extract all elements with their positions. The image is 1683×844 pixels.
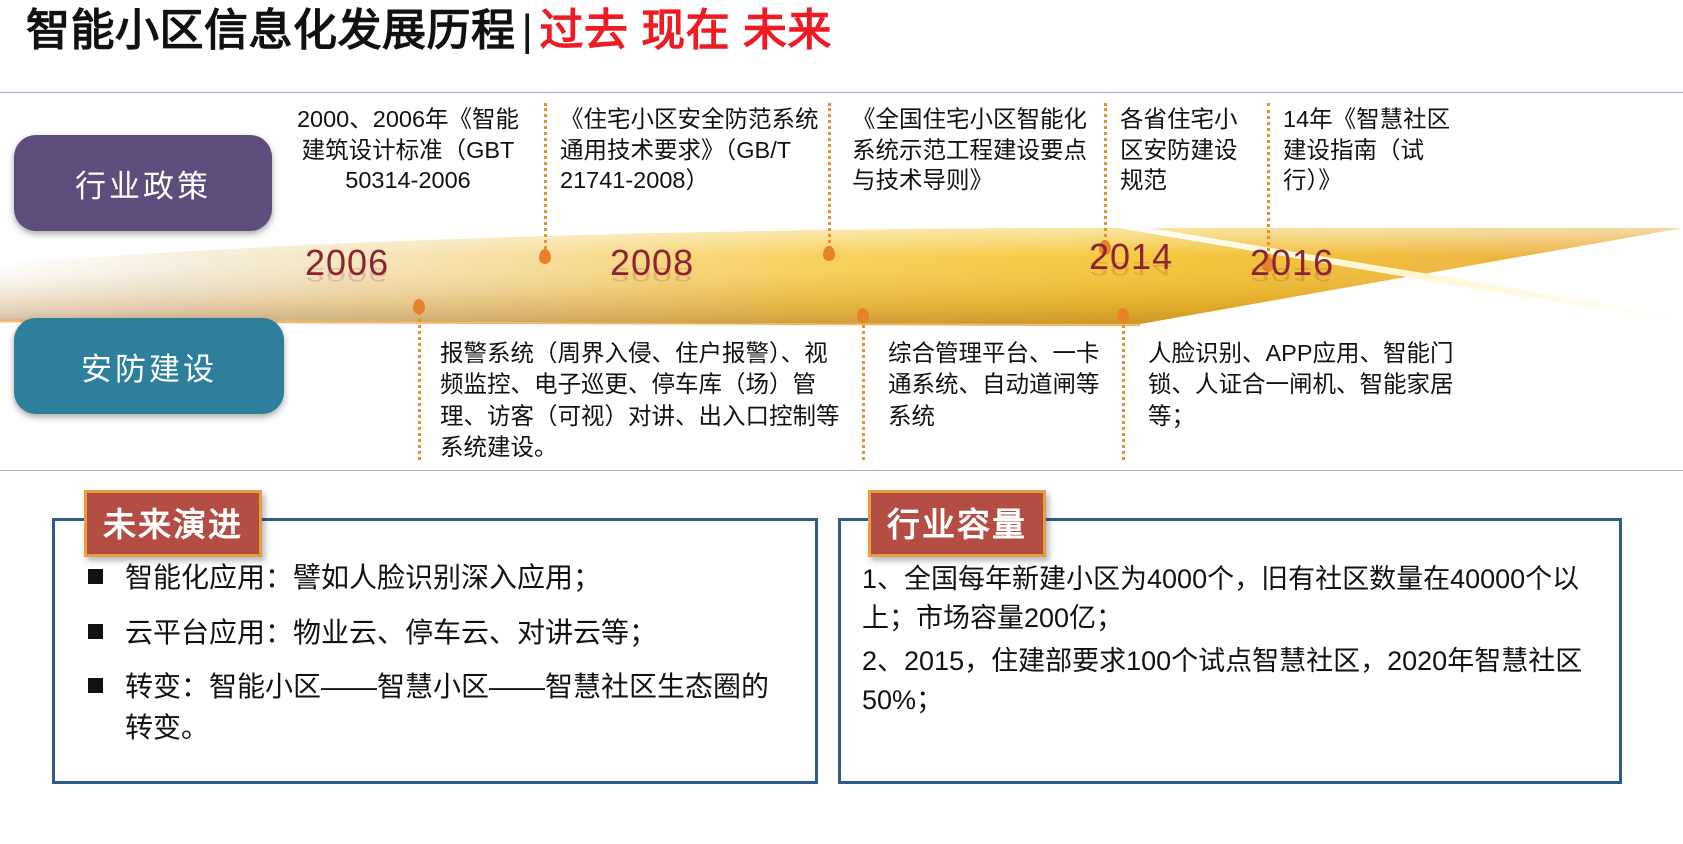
timeline-ribbon-shape [0, 228, 1683, 328]
timeline-year-2008-reflection: 2008 [610, 263, 694, 286]
connector-dot-security-2 [857, 308, 869, 323]
list-item: 智能化应用：譬如人脸识别深入应用； [88, 558, 788, 599]
divider-top [0, 92, 1683, 93]
policy-item-1: 《住宅小区安全防范系统通用技术要求》（GB/T 21741-2008） [560, 104, 820, 196]
policy-item-0: 2000、2006年《智能建筑设计标准（GBT 50314-2006 [288, 104, 528, 196]
divider-middle [0, 470, 1683, 471]
connector-line-policy-2 [828, 103, 831, 255]
page-title-highlight: 过去 现在 未来 [539, 6, 831, 55]
bullet-square-icon [88, 624, 103, 639]
list-item-text: 云平台应用：物业云、停车云、对讲云等； [125, 613, 788, 654]
industry-capacity-text: 1、全国每年新建小区为4000个，旧有社区数量在40000个以上；市场容量200… [862, 560, 1592, 725]
page-title-separator: | [516, 6, 540, 55]
page-title-main: 智能小区信息化发展历程 [26, 6, 516, 55]
industry-capacity-badge: 行业容量 [868, 490, 1046, 557]
policy-item-2: 《全国住宅小区智能化系统示范工程建设要点与技术导则》 [852, 104, 1092, 196]
connector-line-policy-1 [544, 103, 547, 255]
timeline-year-2016-reflection: 2016 [1250, 263, 1334, 286]
bullet-square-icon [88, 569, 103, 584]
category-pill-security-label: 安防建设 [81, 344, 217, 389]
category-pill-policy[interactable]: 行业政策 [14, 135, 272, 231]
list-item: 云平台应用：物业云、停车云、对讲云等； [88, 613, 788, 654]
connector-line-security-3 [1122, 320, 1125, 460]
security-item-0: 报警系统（周界入侵、住户报警）、视频监控、电子巡更、停车库（场）管理、访客（可视… [440, 338, 840, 464]
security-item-1: 综合管理平台、一卡通系统、自动道闸等系统 [888, 338, 1103, 432]
connector-dot-policy-1 [539, 249, 551, 264]
timeline-year-2008: 2008 2008 [610, 242, 694, 328]
list-item-text: 转变：智能小区——智慧小区——智慧社区生态圈的转变。 [125, 667, 788, 748]
category-pill-policy-label: 行业政策 [75, 161, 211, 206]
timeline-year-2006: 2006 2006 [305, 242, 389, 328]
connector-dot-security-1 [413, 299, 425, 314]
capacity-paragraph-2: 2、2015，住建部要求100个试点智慧社区，2020年智慧社区50%； [862, 642, 1592, 720]
list-item: 转变：智能小区——智慧小区——智慧社区生态圈的转变。 [88, 667, 788, 748]
capacity-paragraph-1: 1、全国每年新建小区为4000个，旧有社区数量在40000个以上；市场容量200… [862, 560, 1592, 638]
connector-line-policy-3 [1104, 103, 1107, 255]
bullet-square-icon [88, 678, 103, 693]
timeline-year-2006-reflection: 2006 [305, 263, 389, 286]
timeline-ribbon [0, 228, 1683, 328]
future-evolution-badge: 未来演进 [84, 490, 262, 557]
connector-line-policy-4 [1267, 103, 1270, 263]
connector-dot-policy-2 [823, 246, 835, 261]
connector-line-security-2 [862, 320, 865, 460]
timeline-year-2016: 2016 2016 [1250, 242, 1334, 328]
security-item-2: 人脸识别、APP应用、智能门锁、人证合一闸机、智能家居等； [1148, 338, 1478, 432]
policy-item-3: 各省住宅小区安防建设规范 [1120, 104, 1260, 196]
connector-line-security-1 [418, 312, 421, 460]
page-title: 智能小区信息化发展历程|过去 现在 未来 [26, 6, 832, 57]
policy-item-4: 14年《智慧社区建设指南（试行）》 [1283, 104, 1453, 196]
category-pill-security[interactable]: 安防建设 [14, 318, 284, 414]
future-evolution-list: 智能化应用：譬如人脸识别深入应用； 云平台应用：物业云、停车云、对讲云等； 转变… [88, 558, 788, 762]
timeline-year-2014: 2014 2014 [1089, 236, 1173, 322]
timeline-year-2014-reflection: 2014 [1089, 257, 1173, 280]
list-item-text: 智能化应用：譬如人脸识别深入应用； [125, 558, 788, 599]
